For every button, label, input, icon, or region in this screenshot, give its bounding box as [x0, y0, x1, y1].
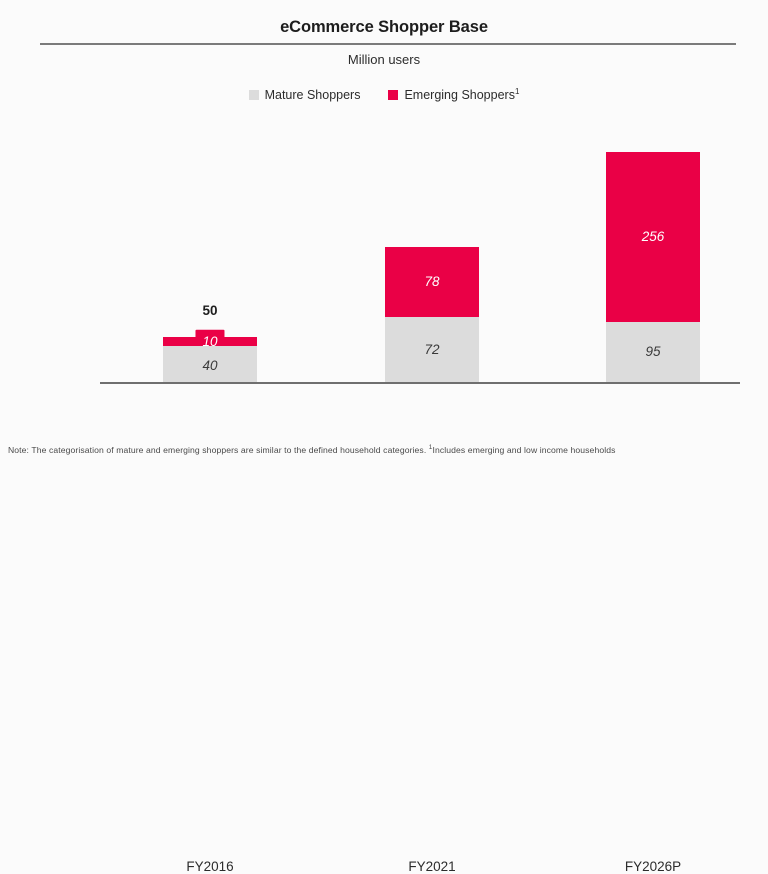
bar-stack-fy2016[interactable]: 10 40 [163, 337, 257, 382]
bar-segment-emerging-fy2016[interactable]: 10 [163, 337, 257, 346]
bar-value-emerging-fy2021: 78 [424, 275, 439, 289]
bar-stack-fy2026p[interactable]: 256 95 [606, 152, 700, 382]
bar-value-emerging-fy2026p: 256 [642, 230, 665, 244]
bar-value-mature-fy2016: 40 [202, 359, 217, 373]
bar-segment-mature-fy2016[interactable]: 40 [163, 346, 257, 382]
bar-segment-mature-fy2021[interactable]: 72 [385, 317, 479, 382]
x-axis-line [100, 382, 740, 384]
bar-segment-mature-fy2026p[interactable]: 95 [606, 322, 700, 382]
bar-total-label-fy2016: 50 [163, 303, 257, 318]
footnote-text: Note: The categorisation of mature and e… [8, 445, 429, 455]
footnote-text-after: Includes emerging and low income househo… [433, 445, 616, 455]
chart-footnote: Note: The categorisation of mature and e… [8, 444, 760, 455]
bar-segment-emerging-fy2021[interactable]: 78 [385, 247, 479, 317]
x-axis-label-fy2021: FY2021 [367, 859, 497, 874]
chart-plot-area: 50 10 40 FY2016 140–160 78 72 FY2021 350 [0, 0, 768, 465]
x-axis-label-fy2026p: FY2026P [588, 859, 718, 874]
bar-stack-fy2021[interactable]: 78 72 [385, 247, 479, 382]
bar-value-mature-fy2021: 72 [424, 343, 439, 357]
x-axis-label-fy2016: FY2016 [145, 859, 275, 874]
bar-segment-emerging-fy2026p[interactable]: 256 [606, 152, 700, 322]
bar-value-mature-fy2026p: 95 [645, 345, 660, 359]
